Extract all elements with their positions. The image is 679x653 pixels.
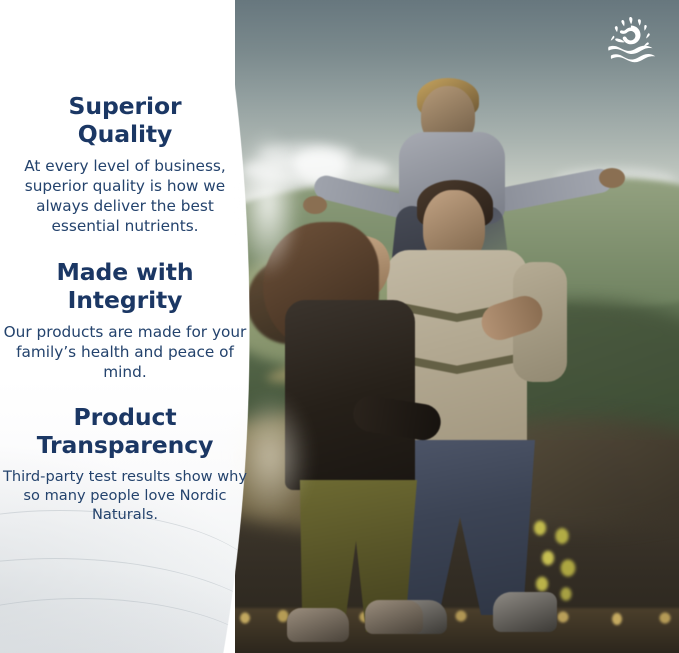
value-block-body: Our products are made for your family’s … <box>0 323 250 383</box>
child-right-hand <box>599 168 625 188</box>
heading-line: Product <box>74 403 177 431</box>
heading-line: Superior <box>69 92 182 120</box>
woman-right-shoe <box>365 600 423 634</box>
child-right-arm <box>492 167 614 213</box>
value-block-body: At every level of business, superior qua… <box>0 157 250 237</box>
value-block-made-with-integrity: Made withIntegrity Our products are made… <box>0 258 250 383</box>
value-block-heading: Made withIntegrity <box>0 258 250 314</box>
heading-line: Quality <box>78 120 173 148</box>
heading-line: Made with <box>56 258 193 286</box>
woman-leather-jacket <box>285 300 415 490</box>
brand-banner: SuperiorQuality At every level of busine… <box>0 0 679 653</box>
heading-line: Transparency <box>37 431 214 459</box>
value-block-superior-quality: SuperiorQuality At every level of busine… <box>0 92 250 237</box>
value-block-body: Third-party test results show why so man… <box>0 468 250 525</box>
family-group <box>235 0 679 653</box>
woman-left-shoe <box>287 608 349 642</box>
value-proposition-list: SuperiorQuality At every level of busine… <box>0 0 250 653</box>
sun-and-waves-logo-icon <box>605 16 657 66</box>
value-block-heading: ProductTransparency <box>0 403 250 459</box>
heading-line: Integrity <box>68 286 183 314</box>
value-block-heading: SuperiorQuality <box>0 92 250 148</box>
lifestyle-photo <box>235 0 679 653</box>
man-right-shoe <box>493 592 557 632</box>
value-block-product-transparency: ProductTransparency Third-party test res… <box>0 403 250 525</box>
child-left-hand <box>303 196 327 214</box>
